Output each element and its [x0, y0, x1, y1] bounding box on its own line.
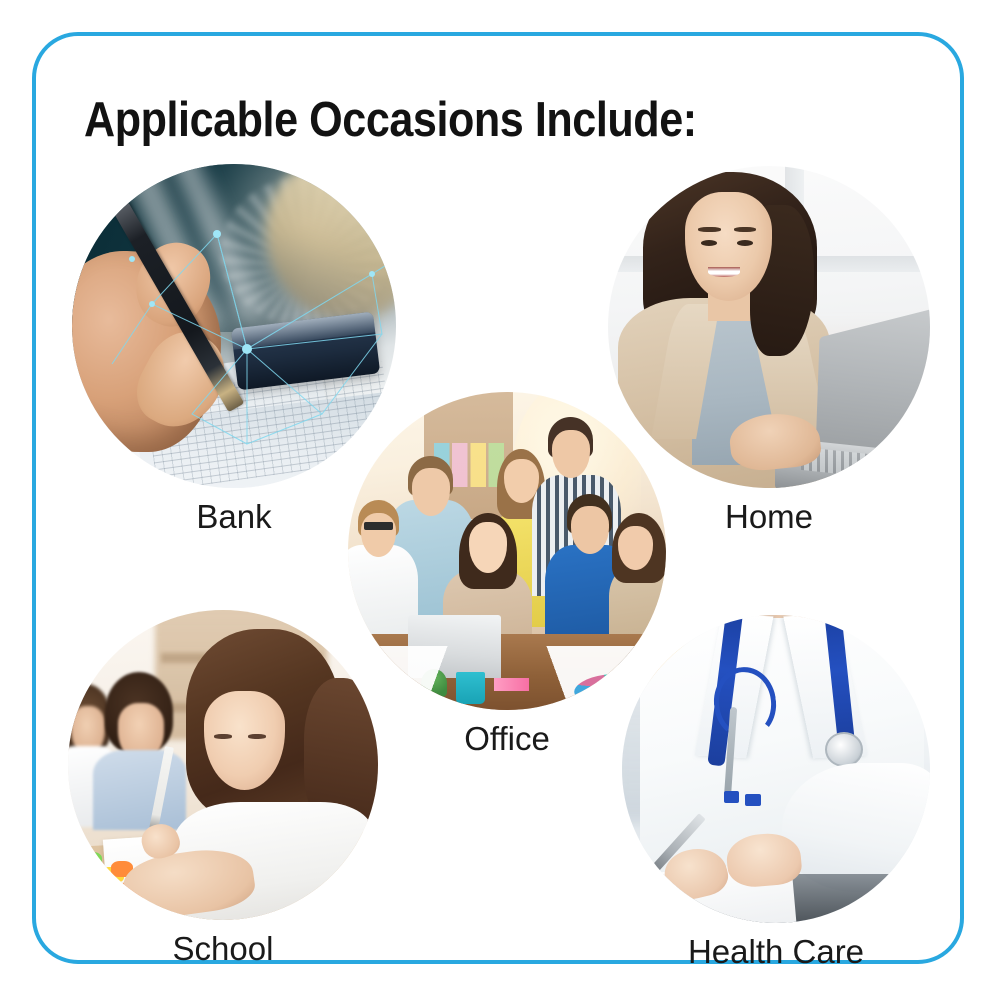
health-care-image [622, 615, 930, 923]
office-sticky-note [494, 678, 529, 691]
school-image [68, 610, 378, 920]
office-image [348, 392, 666, 710]
occasion-school: School [68, 610, 378, 970]
home-smile [708, 267, 740, 277]
school-girl-eye [214, 734, 233, 739]
school-boy-shirt [93, 750, 186, 831]
caption-health-care: Health Care [622, 933, 930, 971]
office-person-glasses [364, 522, 393, 530]
home-eye [737, 240, 753, 246]
caption-office: Office [348, 720, 666, 758]
occasion-office: Office [348, 392, 666, 764]
home-eyebrow [698, 227, 721, 232]
stethoscope-chestpiece [825, 732, 863, 767]
caption-school: School [68, 930, 378, 968]
promo-graphic: Applicable Occasions Include: [0, 0, 1000, 1000]
occasion-health-care: Health Care [622, 615, 930, 973]
home-eye [701, 240, 717, 246]
school-girl-eye [248, 734, 267, 739]
stethoscope-clip [724, 791, 739, 803]
school-letter-shape [80, 852, 102, 868]
office-person-head [552, 430, 590, 478]
stethoscope-clip [745, 794, 760, 806]
page-title: Applicable Occasions Include: [84, 92, 697, 148]
office-sticky-note [373, 688, 414, 701]
